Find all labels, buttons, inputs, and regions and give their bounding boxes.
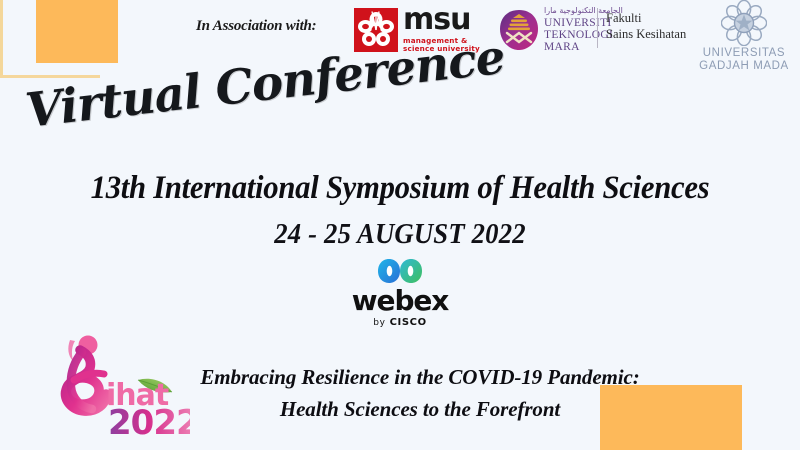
faculty-line-2: Sains Kesihatan — [606, 26, 686, 42]
uitm-line-3: MARA — [544, 41, 623, 53]
conference-theme: Embracing Resilience in the COVID-19 Pan… — [160, 362, 680, 426]
event-dates: 24 - 25 AUGUST 2022 — [32, 218, 768, 251]
ugm-line-1: UNIVERSITAS — [703, 47, 785, 59]
faculty-name: Fakulti Sains Kesihatan — [606, 10, 686, 43]
ugm-star-emblem-icon — [721, 0, 767, 46]
uitm-crest-icon — [498, 9, 540, 51]
webex-name: webex — [352, 287, 448, 315]
logo-divider — [597, 8, 598, 48]
faculty-line-1: Fakulti — [606, 10, 686, 26]
logo-ugm: UNIVERSITAS GADJAH MADA — [692, 0, 796, 73]
theme-line-2: Health Sciences to the Forefront — [160, 394, 680, 426]
msu-name: msu — [403, 6, 480, 35]
ugm-line-2: GADJAH MADA — [699, 60, 789, 72]
ugm-wordmark: UNIVERSITAS GADJAH MADA — [699, 47, 789, 73]
webex-by-prefix: by — [373, 318, 385, 328]
association-label: In Association with: — [196, 18, 316, 35]
webex-by-cisco: by CISCO — [373, 317, 426, 328]
logo-webex: webex by CISCO — [352, 258, 448, 328]
conference-poster: In Association with: — [0, 0, 800, 450]
logo-uitm: الجامعة التكنولوجية مارا UNIVERSITI TEKN… — [498, 7, 623, 54]
theme-line-1: Embracing Resilience in the COVID-19 Pan… — [200, 365, 639, 389]
page-title: 13th International Symposium of Health S… — [28, 170, 772, 207]
webex-logo-icon — [376, 258, 424, 284]
webex-brand: CISCO — [390, 317, 427, 328]
